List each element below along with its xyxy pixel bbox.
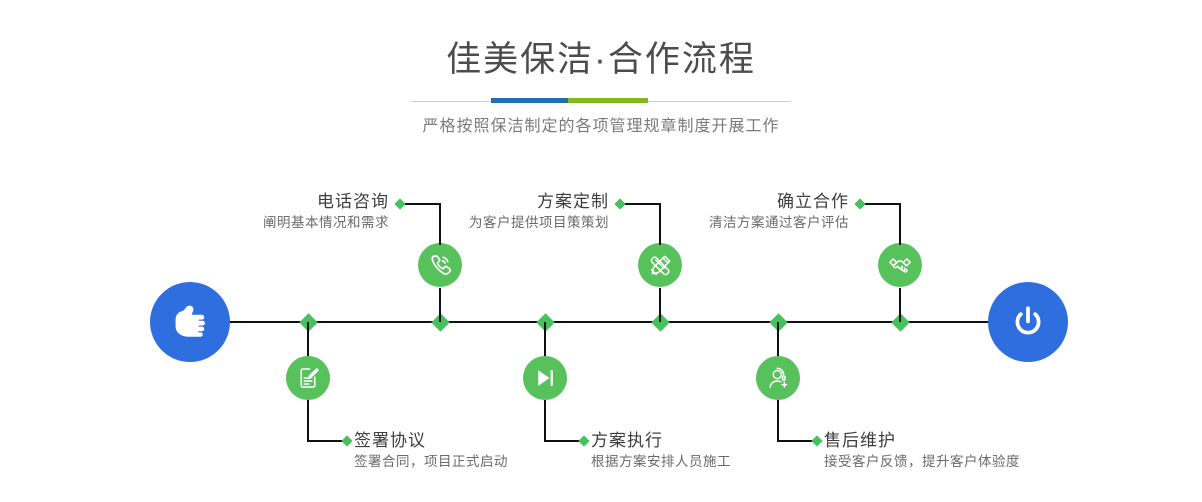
step-2-icon-badge[interactable] [418, 243, 462, 287]
elbow-v-step-6 [899, 203, 901, 245]
step-5-label: 售后维护 接受客户反馈，提升客户体验度 [824, 429, 1020, 472]
handshake-icon [887, 252, 913, 278]
tip-step-1 [341, 435, 352, 446]
stem-step-3 [544, 322, 546, 358]
flow-diagram-canvas: 佳美保洁·合作流程 严格按照保洁制定的各项管理规章制度开展工作 [0, 0, 1202, 502]
power-icon [1008, 302, 1048, 342]
timeline-start-node[interactable] [150, 282, 230, 362]
step-6-title: 确立合作 [570, 190, 849, 213]
play-next-icon [533, 366, 557, 390]
step-5-desc: 接受客户反馈，提升客户体验度 [824, 452, 1020, 472]
step-3-desc: 根据方案安排人员施工 [591, 452, 731, 472]
tip-step-6 [854, 198, 865, 209]
page-subtitle: 严格按照保洁制定的各项管理规章制度开展工作 [0, 116, 1202, 138]
elbow-v-step-1 [307, 400, 309, 441]
document-edit-icon [296, 366, 320, 390]
step-6-desc: 清洁方案通过客户评估 [570, 213, 849, 233]
phone-call-icon [427, 252, 453, 278]
timeline-axis [225, 321, 1000, 323]
step-4-title: 方案定制 [330, 190, 609, 213]
title-divider [411, 98, 791, 104]
divider-green-segment [568, 98, 648, 103]
step-3-icon-badge[interactable] [523, 356, 567, 400]
elbow-h-step-6 [861, 203, 901, 205]
stem-step-5 [777, 322, 779, 358]
step-3-title: 方案执行 [591, 429, 731, 452]
step-4-label: 方案定制 为客户提供项目策策划 [330, 190, 609, 233]
pencil-ruler-icon [648, 253, 673, 278]
support-agent-add-icon [766, 366, 791, 391]
page-title: 佳美保洁·合作流程 [0, 38, 1202, 82]
stem-step-4-lower [659, 288, 661, 322]
step-6-label: 确立合作 清洁方案通过客户评估 [570, 190, 849, 233]
step-4-desc: 为客户提供项目策策划 [330, 213, 609, 233]
elbow-v-step-3 [544, 400, 546, 441]
step-1-title: 签署协议 [354, 429, 508, 452]
step-5-icon-badge[interactable] [756, 356, 800, 400]
diagram-header: 佳美保洁·合作流程 严格按照保洁制定的各项管理规章制度开展工作 [0, 0, 1202, 138]
step-1-desc: 签署合同，项目正式启动 [354, 452, 508, 472]
step-5-title: 售后维护 [824, 429, 1020, 452]
divider-blue-segment [491, 98, 568, 103]
tip-step-5 [811, 435, 822, 446]
stem-step-2-lower [439, 288, 441, 322]
timeline-end-node[interactable] [988, 282, 1068, 362]
pointing-hand-icon [169, 301, 211, 343]
elbow-v-step-5 [777, 400, 779, 441]
step-4-icon-badge[interactable] [638, 243, 682, 287]
step-6-icon-badge[interactable] [878, 243, 922, 287]
step-3-label: 方案执行 根据方案安排人员施工 [591, 429, 731, 472]
tip-step-3 [578, 435, 589, 446]
step-1-icon-badge[interactable] [286, 356, 330, 400]
stem-step-6-lower [899, 288, 901, 322]
step-1-label: 签署协议 签署合同，项目正式启动 [354, 429, 508, 472]
stem-step-1 [307, 322, 309, 358]
